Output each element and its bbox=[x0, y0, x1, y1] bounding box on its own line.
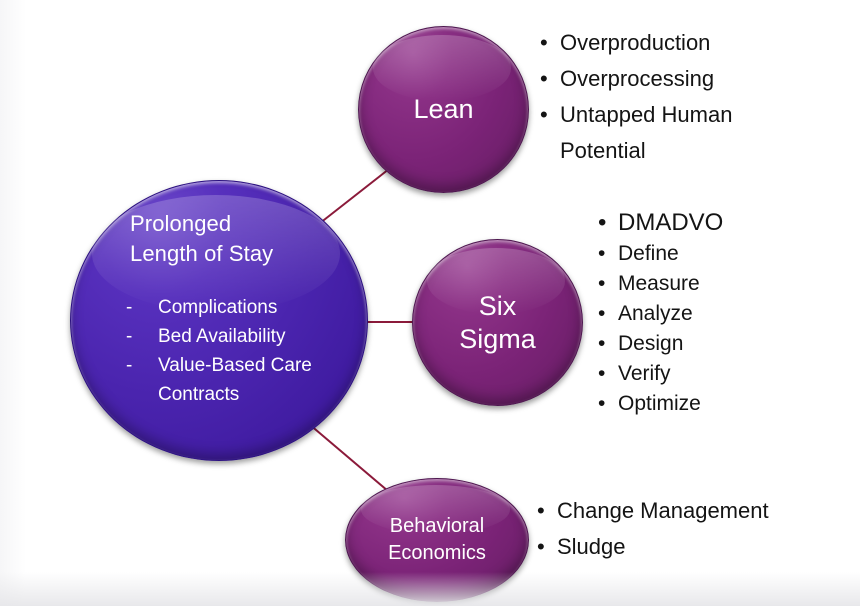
node-behavioral-economics[interactable]: Behavioral Economics bbox=[345, 478, 529, 602]
bullet-list-six-sigma: • DMADVO • Define • Measure • Analyze • … bbox=[594, 207, 834, 419]
center-node-title-line1: Prolonged bbox=[130, 209, 341, 239]
center-node-title-line2: Length of Stay bbox=[130, 239, 341, 269]
list-item: • Measure bbox=[594, 269, 834, 299]
node-six-sigma-label-line1: Six bbox=[459, 290, 536, 323]
node-prolonged-length-of-stay[interactable]: Prolonged Length of Stay - Complications… bbox=[70, 180, 368, 461]
bullet-list-behavioral-economics: • Change Management • Sludge bbox=[533, 493, 853, 565]
list-item: • Verify bbox=[594, 359, 834, 389]
list-item-label: Optimize bbox=[618, 392, 701, 415]
list-item: • Sludge bbox=[533, 529, 853, 565]
center-node-list: - Complications - Bed Availability - Val… bbox=[71, 293, 367, 409]
bullet-icon: • bbox=[598, 359, 605, 389]
list-item-label: Verify bbox=[618, 362, 671, 385]
bullet-icon: • bbox=[598, 269, 605, 299]
list-item: • Design bbox=[594, 329, 834, 359]
connector-center-to-behavioral bbox=[309, 424, 388, 491]
list-item-label: Potential bbox=[560, 138, 646, 163]
list-item: - Bed Availability bbox=[126, 322, 347, 351]
list-item: • Analyze bbox=[594, 299, 834, 329]
bullet-icon: • bbox=[540, 25, 548, 61]
list-item-label: DMADVO bbox=[618, 209, 723, 236]
list-item-label: Analyze bbox=[618, 302, 693, 325]
list-item: Contracts bbox=[126, 380, 347, 409]
bullet-icon: • bbox=[598, 329, 605, 359]
list-item-label: Sludge bbox=[557, 534, 626, 559]
bullet-icon: • bbox=[540, 97, 548, 133]
list-item: • Overprocessing bbox=[536, 61, 836, 97]
dash-marker: - bbox=[126, 351, 132, 380]
node-behavioral-label-line1: Behavioral bbox=[388, 513, 486, 540]
list-item: • Define bbox=[594, 239, 834, 269]
dash-marker: - bbox=[126, 322, 132, 351]
center-node-title: Prolonged Length of Stay bbox=[71, 209, 367, 269]
bullet-icon: • bbox=[598, 389, 605, 419]
list-item-label: Overproduction bbox=[560, 30, 710, 55]
list-item-label: Overprocessing bbox=[560, 66, 714, 91]
list-item-label: Measure bbox=[618, 272, 700, 295]
dash-marker: - bbox=[126, 293, 132, 322]
bullet-icon: • bbox=[537, 493, 545, 529]
list-item: • DMADVO bbox=[594, 207, 834, 239]
list-item: Potential bbox=[536, 133, 836, 169]
bullet-icon: • bbox=[540, 61, 548, 97]
node-six-sigma[interactable]: Six Sigma bbox=[412, 239, 583, 406]
list-item-label: Define bbox=[618, 242, 679, 265]
bullet-icon: • bbox=[598, 299, 605, 329]
list-item: • Untapped Human bbox=[536, 97, 836, 133]
bullet-list-lean: • Overproduction • Overprocessing • Unta… bbox=[536, 25, 836, 169]
list-item-label: Bed Availability bbox=[158, 326, 285, 347]
diagram-canvas: Prolonged Length of Stay - Complications… bbox=[0, 0, 860, 606]
list-item-label: Contracts bbox=[158, 384, 239, 405]
list-item: • Overproduction bbox=[536, 25, 836, 61]
list-item: • Change Management bbox=[533, 493, 853, 529]
list-item: • Optimize bbox=[594, 389, 834, 419]
bullet-icon: • bbox=[537, 529, 545, 565]
list-item-label: Change Management bbox=[557, 498, 769, 523]
node-behavioral-label-line2: Economics bbox=[388, 540, 486, 567]
bullet-icon: • bbox=[598, 239, 605, 269]
node-six-sigma-label-line2: Sigma bbox=[459, 323, 536, 356]
bullet-icon: • bbox=[598, 207, 606, 239]
list-item-label: Untapped Human bbox=[560, 102, 732, 127]
node-lean-label: Lean bbox=[413, 93, 473, 126]
list-item-label: Design bbox=[618, 332, 683, 355]
node-lean[interactable]: Lean bbox=[358, 26, 529, 193]
list-item-label: Complications bbox=[158, 297, 277, 318]
list-item: - Value-Based Care bbox=[126, 351, 347, 380]
list-item: - Complications bbox=[126, 293, 347, 322]
list-item-label: Value-Based Care bbox=[158, 355, 312, 376]
